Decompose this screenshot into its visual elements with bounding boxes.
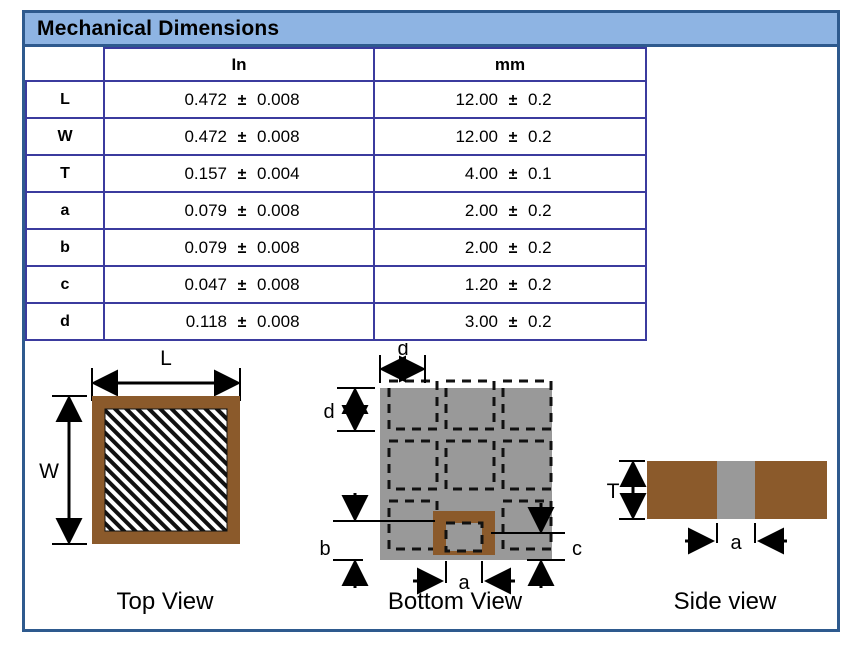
mm-tolerance: 0.2 xyxy=(528,275,580,295)
column-header-in: In xyxy=(104,48,374,81)
in-nominal: 0.472 xyxy=(169,127,227,147)
row-value-mm: 12.00±0.2 xyxy=(374,81,646,118)
mm-tolerance: 0.1 xyxy=(528,164,580,184)
bottom-view-label-d-vertical: d xyxy=(323,401,334,423)
row-value-mm: 2.00±0.2 xyxy=(374,229,646,266)
mm-nominal: 12.00 xyxy=(440,127,498,147)
table-row: d0.118±0.0083.00±0.2 xyxy=(26,303,646,340)
mm-plusminus: ± xyxy=(498,203,528,221)
row-symbol: c xyxy=(26,266,104,303)
row-value-mm: 12.00±0.2 xyxy=(374,118,646,155)
mm-plusminus: ± xyxy=(498,166,528,184)
table-row: L0.472±0.00812.00±0.2 xyxy=(26,81,646,118)
in-tolerance: 0.004 xyxy=(257,164,309,184)
in-plusminus: ± xyxy=(227,314,257,332)
mm-tolerance: 0.2 xyxy=(528,90,580,110)
row-value-in: 0.079±0.008 xyxy=(104,192,374,229)
mm-tolerance: 0.2 xyxy=(528,238,580,258)
in-nominal: 0.157 xyxy=(169,164,227,184)
side-view-caption: Side view xyxy=(605,588,845,616)
in-plusminus: ± xyxy=(227,240,257,258)
mm-tolerance: 0.2 xyxy=(528,312,580,332)
mm-plusminus: ± xyxy=(498,277,528,295)
bottom-view-label-d-horizontal: d xyxy=(397,343,408,360)
row-value-mm: 2.00±0.2 xyxy=(374,192,646,229)
datasheet-frame: Mechanical Dimensions In mm L0.472±0.008… xyxy=(22,10,840,632)
row-value-mm: 1.20±0.2 xyxy=(374,266,646,303)
in-plusminus: ± xyxy=(227,203,257,221)
table-body: L0.472±0.00812.00±0.2W0.472±0.00812.00±0… xyxy=(26,81,646,340)
row-symbol: T xyxy=(26,155,104,192)
side-view-label-a: a xyxy=(730,532,742,554)
in-plusminus: ± xyxy=(227,166,257,184)
table-row: b0.079±0.0082.00±0.2 xyxy=(26,229,646,266)
row-symbol: b xyxy=(26,229,104,266)
mechanical-dimensions-table: In mm L0.472±0.00812.00±0.2W0.472±0.0081… xyxy=(25,47,647,341)
in-tolerance: 0.008 xyxy=(257,127,309,147)
mm-nominal: 1.20 xyxy=(440,275,498,295)
row-value-mm: 3.00±0.2 xyxy=(374,303,646,340)
in-tolerance: 0.008 xyxy=(257,312,309,332)
table-header-row: In mm xyxy=(26,48,646,81)
in-nominal: 0.079 xyxy=(169,201,227,221)
in-plusminus: ± xyxy=(227,92,257,110)
page-title: Mechanical Dimensions xyxy=(37,17,279,41)
row-symbol: a xyxy=(26,192,104,229)
top-view-label-L: L xyxy=(160,347,172,370)
mm-tolerance: 0.2 xyxy=(528,201,580,221)
mm-nominal: 2.00 xyxy=(440,201,498,221)
row-value-in: 0.157±0.004 xyxy=(104,155,374,192)
mm-nominal: 3.00 xyxy=(440,312,498,332)
side-view-label-T: T xyxy=(607,480,620,503)
in-nominal: 0.047 xyxy=(169,275,227,295)
mm-plusminus: ± xyxy=(498,92,528,110)
column-header-mm: mm xyxy=(374,48,646,81)
in-nominal: 0.118 xyxy=(169,312,227,332)
bottom-view-caption: Bottom View xyxy=(305,588,605,616)
in-tolerance: 0.008 xyxy=(257,201,309,221)
bottom-view-label-c: c xyxy=(572,538,582,560)
in-plusminus: ± xyxy=(227,129,257,147)
row-value-in: 0.472±0.008 xyxy=(104,81,374,118)
in-nominal: 0.472 xyxy=(169,90,227,110)
bottom-view-label-b: b xyxy=(319,538,330,560)
side-view-drawing: T a xyxy=(605,343,845,628)
title-bar: Mechanical Dimensions xyxy=(25,13,837,47)
in-plusminus: ± xyxy=(227,277,257,295)
table-row: c0.047±0.0081.20±0.2 xyxy=(26,266,646,303)
in-tolerance: 0.008 xyxy=(257,238,309,258)
in-nominal: 0.079 xyxy=(169,238,227,258)
row-value-in: 0.047±0.008 xyxy=(104,266,374,303)
top-view-drawing: L W xyxy=(35,343,295,628)
mm-tolerance: 0.2 xyxy=(528,127,580,147)
drawings-area: L W Top View xyxy=(25,343,837,628)
row-value-in: 0.118±0.008 xyxy=(104,303,374,340)
mm-nominal: 4.00 xyxy=(440,164,498,184)
row-value-in: 0.079±0.008 xyxy=(104,229,374,266)
mm-plusminus: ± xyxy=(498,240,528,258)
row-value-in: 0.472±0.008 xyxy=(104,118,374,155)
mm-nominal: 12.00 xyxy=(440,90,498,110)
row-symbol: L xyxy=(26,81,104,118)
table-row: a0.079±0.0082.00±0.2 xyxy=(26,192,646,229)
table-row: T0.157±0.0044.00±0.1 xyxy=(26,155,646,192)
top-view-label-W: W xyxy=(39,460,59,483)
row-symbol: W xyxy=(26,118,104,155)
in-tolerance: 0.008 xyxy=(257,90,309,110)
row-value-mm: 4.00±0.1 xyxy=(374,155,646,192)
top-view-caption: Top View xyxy=(35,588,295,616)
row-symbol: d xyxy=(26,303,104,340)
in-tolerance: 0.008 xyxy=(257,275,309,295)
mm-plusminus: ± xyxy=(498,314,528,332)
bottom-view-drawing: d d b c a xyxy=(315,343,605,628)
mm-nominal: 2.00 xyxy=(440,238,498,258)
column-header-symbol xyxy=(26,48,104,81)
table-row: W0.472±0.00812.00±0.2 xyxy=(26,118,646,155)
mm-plusminus: ± xyxy=(498,129,528,147)
